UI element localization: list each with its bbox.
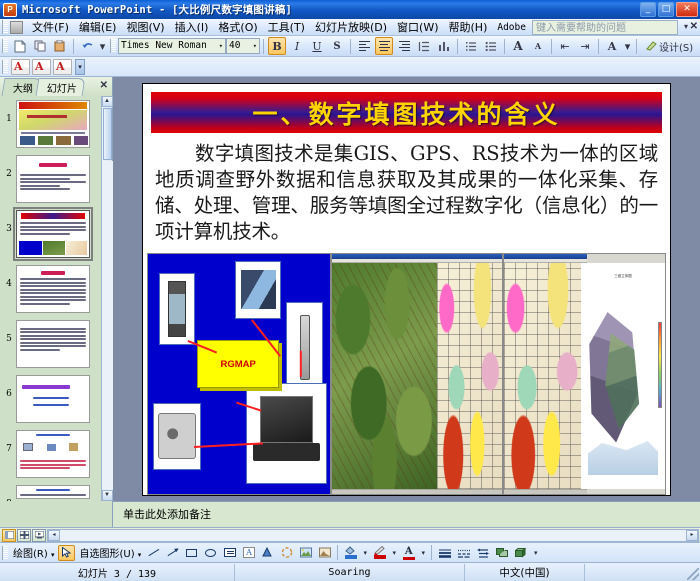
pdf-toolbar-overflow-icon[interactable]: ▾ [75, 59, 85, 75]
line-style-icon[interactable] [436, 545, 453, 561]
arrow-style-icon[interactable] [474, 545, 491, 561]
close-button[interactable]: ✕ [676, 2, 698, 17]
close-icon[interactable]: ✕ [690, 21, 698, 32]
current-slide[interactable]: 一、数字填图技术的含义 数字填图技术是集GIS、GPS、RS技术为一体的区域地质… [142, 83, 671, 496]
slide-design-button[interactable]: 设计(S) [641, 37, 698, 55]
mapping-app-window [332, 254, 501, 494]
geological-map-image [437, 263, 501, 489]
svg-text:A: A [245, 548, 252, 557]
thumbnail-preview[interactable] [16, 155, 90, 203]
laptop-photo [246, 383, 326, 484]
menu-item-slideshow[interactable]: 幻灯片放映(D) [310, 18, 392, 36]
minimize-button[interactable]: _ [640, 2, 656, 17]
thumbnail-number: 7 [2, 430, 16, 454]
insert-clipart-icon[interactable] [278, 545, 295, 561]
thumbnail-number: 5 [2, 320, 16, 344]
bold-button[interactable]: B [268, 37, 286, 55]
menu-item-edit[interactable]: 编辑(E) [74, 18, 122, 36]
powerpoint-app-icon: P [3, 3, 17, 17]
menu-item-view[interactable]: 视图(V) [121, 18, 169, 36]
slide-figures: RGMAP [147, 253, 666, 495]
thumbnail-number: 2 [2, 155, 16, 179]
notes-row: 单击此处添加备注 [0, 501, 700, 527]
slide-thumbnail-list[interactable]: 1 [0, 96, 112, 501]
3d-base-plane [588, 439, 659, 475]
line-color-icon[interactable] [371, 545, 388, 561]
select-objects-icon[interactable] [58, 545, 75, 561]
digital-camera-photo [153, 403, 200, 470]
textbox-icon[interactable] [221, 545, 238, 561]
scrollbar-track[interactable] [102, 161, 113, 490]
design-template-name[interactable]: Soaring [235, 564, 465, 581]
font-color-icon[interactable]: A [400, 545, 417, 561]
notes-pane[interactable]: 单击此处添加备注 [113, 501, 700, 527]
fill-color-dropdown-icon[interactable]: ▾ [361, 545, 369, 561]
undo-dropdown-icon[interactable]: ▾ [98, 37, 107, 55]
camcorder-photo [235, 261, 281, 319]
scroll-up-icon[interactable]: ▲ [102, 96, 113, 107]
topographic-image [332, 263, 437, 489]
chevron-down-icon[interactable]: ▾ [219, 39, 223, 53]
menu-item-window[interactable]: 窗口(W) [392, 18, 443, 36]
draw-menu-label: 绘图(R) [13, 549, 48, 560]
voice-recorder-photo [286, 302, 322, 393]
slide-edit-area[interactable]: 一、数字填图技术的含义 数字填图技术是集GIS、GPS、RS技术为一体的区域地质… [113, 77, 700, 501]
drawing-toolbar-overflow-icon[interactable]: ▾ [531, 545, 540, 561]
mock-canvas [332, 263, 501, 489]
line-color-dropdown-icon[interactable]: ▾ [390, 545, 398, 561]
line-icon[interactable] [145, 545, 162, 561]
autoshapes-label: 自选图形(U) [79, 549, 134, 560]
convert-and-email-pdf-icon[interactable] [32, 59, 51, 75]
chevron-down-icon[interactable]: ▾ [684, 22, 688, 31]
draw-menu-button[interactable]: 绘图(R) ▾ [10, 545, 57, 560]
tab-slides-label: 幻灯片 [47, 80, 77, 95]
font-color-icon[interactable]: A [603, 37, 621, 55]
menu-bar: 文件(F) 编辑(E) 视图(V) 插入(I) 格式(O) 工具(T) 幻灯片放… [0, 19, 700, 36]
insert-picture-from-file-icon[interactable] [316, 545, 333, 561]
thumbnail-item[interactable]: 8 [0, 485, 112, 501]
underline-button[interactable]: U [308, 37, 326, 55]
align-left-icon[interactable] [355, 37, 373, 55]
numbering-icon[interactable] [462, 37, 480, 55]
geological-map-image [504, 263, 582, 489]
chevron-down-icon: ▾ [138, 551, 142, 559]
status-bar: 幻灯片 3 / 139 Soaring 中文(中国) [0, 562, 700, 581]
insert-wordart-icon[interactable]: A [240, 545, 257, 561]
scroll-down-icon[interactable]: ▼ [102, 490, 113, 501]
status-bar-filler [585, 564, 700, 581]
thumbnail-item[interactable]: 2 [0, 155, 112, 203]
align-right-icon[interactable] [395, 37, 413, 55]
powerpoint-window: P Microsoft PowerPoint - [大比例尺数字填图讲稿] _ … [0, 0, 700, 581]
figure-caption: 三维立体图 [614, 274, 632, 279]
menu-grip-handle[interactable] [2, 20, 8, 34]
copy-icon[interactable] [31, 37, 49, 55]
thumbnail-preview-selected[interactable] [16, 210, 90, 258]
thumbnail-preview[interactable] [16, 430, 90, 478]
normal-view-button[interactable] [2, 529, 16, 542]
formatting-grip-handle[interactable] [110, 39, 116, 53]
thumbnail-preview[interactable] [16, 485, 90, 499]
menu-item-insert[interactable]: 插入(I) [170, 18, 214, 36]
menu-item-help[interactable]: 帮助(H) [444, 18, 493, 36]
new-document-icon[interactable] [11, 37, 29, 55]
pane-tabs: 大纲 幻灯片 ✕ [0, 77, 112, 96]
slide-show-view-button[interactable] [32, 529, 46, 542]
insert-diagram-icon[interactable] [259, 545, 276, 561]
thumbnail-item[interactable]: 1 [0, 100, 112, 148]
rgmap-workflow-diagram[interactable]: RGMAP [147, 253, 331, 495]
scroll-right-icon[interactable]: ▸ [686, 530, 698, 541]
slide-sorter-view-button[interactable] [17, 529, 31, 542]
font-color-dropdown-icon[interactable]: ▾ [623, 37, 632, 55]
fill-color-icon[interactable] [342, 545, 359, 561]
thumbnail-number: 6 [2, 375, 16, 399]
line-spacing-icon[interactable] [415, 37, 433, 55]
mock-canvas: 三维立体图 [504, 263, 666, 489]
title-bar: P Microsoft PowerPoint - [大比例尺数字填图讲稿] _ … [0, 0, 700, 19]
thumbnail-item[interactable]: 4 [0, 265, 112, 313]
menu-item-file[interactable]: 文件(F) [27, 18, 74, 36]
mock-statusbar [332, 489, 501, 494]
font-name-combobox[interactable]: Times New Roman ▾ [118, 38, 226, 54]
undo-icon[interactable] [78, 37, 96, 55]
thumbnail-number: 1 [2, 100, 16, 124]
scroll-left-icon[interactable]: ◂ [48, 530, 60, 541]
font-name-value: Times New Roman [121, 39, 207, 53]
drawing-toolbar: 绘图(R) ▾ 自选图形(U) ▾ A [0, 542, 700, 562]
text-shadow-button[interactable]: S [328, 37, 346, 55]
menu-item-format[interactable]: 格式(O) [213, 18, 262, 36]
shadow-style-icon[interactable] [493, 545, 510, 561]
hscroll-track[interactable] [60, 530, 686, 541]
slide-title-text: 一、数字填图技术的含义 [252, 95, 560, 131]
slide-counter: 幻灯片 3 / 139 [0, 564, 235, 581]
notes-horizontal-scrollbar[interactable]: ◂ ▸ [47, 529, 699, 542]
insert-picture-icon[interactable] [297, 545, 314, 561]
resize-grip-icon[interactable] [687, 568, 699, 580]
thumbnail-item[interactable]: 5 [0, 320, 112, 368]
increase-indent-icon[interactable]: ⇥ [576, 37, 594, 55]
geological-map-and-3d-block[interactable]: 三维立体图 [503, 253, 667, 495]
toolbar-grip-handle[interactable] [2, 39, 8, 53]
map-legend-bar [658, 322, 662, 408]
chevron-down-icon[interactable]: ▾ [253, 39, 257, 53]
slide-design-label: 设计(S) [659, 39, 693, 54]
thumbnail-pane-scrollbar[interactable]: ▲ ▼ [101, 96, 112, 501]
3d-block-panel: 三维立体图 [581, 263, 665, 489]
thumbnail-item[interactable]: 7 [0, 430, 112, 478]
ask-a-question-input[interactable]: 键入需要帮助的问题 [532, 20, 678, 35]
slides-outline-pane: 大纲 幻灯片 ✕ 1 [0, 77, 113, 501]
thumbnail-number: 4 [2, 265, 16, 289]
thumbnail-preview[interactable] [16, 320, 90, 368]
tab-slides[interactable]: 幻灯片 [36, 78, 86, 96]
formatting-toolbar: ▾ Times New Roman ▾ 40 ▾ B I U S [0, 36, 700, 57]
bullets-icon[interactable] [482, 37, 500, 55]
pdf-toolbar-grip-handle[interactable] [2, 60, 8, 74]
chevron-down-icon: ▾ [51, 551, 55, 559]
document-control-icon[interactable] [10, 21, 23, 34]
thumbnail-item[interactable]: 3 [0, 210, 112, 258]
arrow-icon [300, 351, 302, 377]
3d-style-icon[interactable] [512, 545, 529, 561]
workspace: 大纲 幻灯片 ✕ 1 [0, 77, 700, 501]
rectangle-icon[interactable] [183, 545, 200, 561]
geomap-app-window: 三维立体图 [504, 254, 666, 494]
notes-left-gutter [0, 501, 113, 527]
close-pane-icon[interactable]: ✕ [100, 80, 108, 91]
decrease-indent-icon[interactable]: ⇤ [556, 37, 574, 55]
maximize-button[interactable]: □ [658, 2, 674, 17]
align-center-icon[interactable] [375, 37, 393, 55]
slide-body-text[interactable]: 数字填图技术是集GIS、GPS、RS技术为一体的区域地质调查野外数据和信息获取及… [155, 141, 658, 245]
convert-to-pdf-icon[interactable] [11, 59, 30, 75]
columns-icon[interactable] [435, 37, 453, 55]
autoshapes-menu-button[interactable]: 自选图形(U) ▾ [76, 545, 144, 560]
paste-icon[interactable] [51, 37, 69, 55]
arrow-icon[interactable] [164, 545, 181, 561]
window-title: Microsoft PowerPoint - [大比例尺数字填图讲稿] [22, 2, 292, 17]
thumbnail-number: 3 [2, 210, 16, 234]
rgmap-label: RGMAP [221, 359, 256, 370]
drawing-toolbar-grip-handle[interactable] [2, 546, 8, 560]
font-size-value: 40 [229, 39, 240, 53]
language-status[interactable]: 中文(中国) [465, 564, 585, 581]
thumbnail-item[interactable]: 6 [0, 375, 112, 423]
notes-placeholder: 单击此处添加备注 [123, 506, 211, 522]
scrollbar-thumb[interactable] [103, 108, 112, 160]
rgmap-label-box: RGMAP [197, 340, 279, 388]
increase-font-size-icon[interactable]: A [509, 37, 527, 55]
thumbnail-preview[interactable] [16, 375, 90, 423]
tab-outline-label: 大纲 [13, 80, 33, 95]
thumbnail-preview[interactable] [16, 265, 90, 313]
font-color-letter: A [405, 546, 413, 557]
font-color-dropdown-icon[interactable]: ▾ [419, 545, 427, 561]
view-buttons [0, 529, 47, 542]
decrease-font-size-icon[interactable]: A [529, 37, 547, 55]
field-mapping-screenshots[interactable] [331, 253, 502, 495]
dash-style-icon[interactable] [455, 545, 472, 561]
view-controls-row: ◂ ▸ [0, 527, 700, 542]
slide-title-banner[interactable]: 一、数字填图技术的含义 [151, 92, 662, 133]
pda-device-photo [159, 273, 195, 345]
italic-button[interactable]: I [288, 37, 306, 55]
adobe-pdf-toolbar: ▾ [0, 57, 700, 77]
oval-icon[interactable] [202, 545, 219, 561]
mock-statusbar [504, 489, 588, 494]
thumbnail-number: 8 [2, 485, 16, 501]
font-size-combobox[interactable]: 40 ▾ [226, 38, 260, 54]
thumbnail-preview[interactable] [16, 100, 90, 148]
menu-item-tools[interactable]: 工具(T) [263, 18, 310, 36]
convert-and-send-for-review-icon[interactable] [53, 59, 72, 75]
